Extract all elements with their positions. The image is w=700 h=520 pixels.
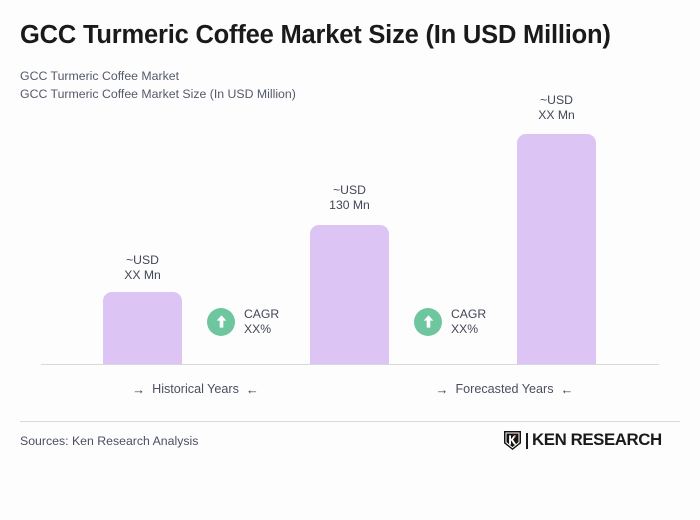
cagr-badge-1: CAGR XX% (207, 307, 279, 336)
cagr-badge-2: CAGR XX% (414, 307, 486, 336)
arrow-right-icon: → (435, 383, 448, 396)
cagr-badge-1-text: CAGR XX% (244, 307, 279, 336)
x-axis-baseline (41, 364, 659, 365)
cagr-badge-1-line1: CAGR (244, 307, 279, 321)
axis-band-historical: → Historical Years ← (41, 378, 350, 400)
axis-band-forecasted-label: Forecasted Years (455, 382, 553, 396)
arrow-up-icon (414, 308, 442, 336)
cagr-badge-2-line1: CAGR (451, 307, 486, 321)
arrow-right-icon: → (132, 383, 145, 396)
sources-note: Sources: Ken Research Analysis (20, 434, 198, 448)
brand-logo: KEN RESEARCH (503, 430, 659, 451)
arrow-up-icon (207, 308, 235, 336)
chart-page: GCC Turmeric Coffee Market Size (In USD … (0, 0, 700, 520)
bar-2[interactable] (310, 225, 389, 364)
ken-research-shield-icon (503, 430, 522, 451)
brand-separator (526, 433, 528, 449)
bar-label-1-line1: ~USD (126, 253, 159, 267)
bar-label-3-line1: ~USD (540, 93, 573, 107)
axis-band-row: → Historical Years ← → Forecasted Years … (41, 378, 659, 400)
axis-band-forecasted: → Forecasted Years ← (350, 378, 659, 400)
bar-value-label-3: ~USD XX Mn (517, 93, 596, 122)
plot-area: ~USD XX Mn CAGR XX% ~USD 130 Mn (0, 0, 700, 370)
cagr-badge-1-line2: XX% (244, 322, 271, 336)
axis-band-historical-label: Historical Years (152, 382, 239, 396)
cagr-badge-2-text: CAGR XX% (451, 307, 486, 336)
bar-value-label-2: ~USD 130 Mn (310, 183, 389, 212)
bar-label-3-line2: XX Mn (538, 108, 575, 122)
bar-label-1-line2: XX Mn (124, 268, 161, 282)
bar-value-label-1: ~USD XX Mn (103, 253, 182, 282)
arrow-left-icon: ← (561, 383, 574, 396)
arrow-left-icon: ← (246, 383, 259, 396)
bar-label-2-line2: 130 Mn (329, 198, 370, 212)
brand-name: KEN RESEARCH (532, 432, 662, 449)
cagr-badge-2-line2: XX% (451, 322, 478, 336)
bar-1[interactable] (103, 292, 182, 364)
bar-label-2-line1: ~USD (333, 183, 366, 197)
bar-3[interactable] (517, 134, 596, 364)
footer-divider (20, 421, 680, 422)
